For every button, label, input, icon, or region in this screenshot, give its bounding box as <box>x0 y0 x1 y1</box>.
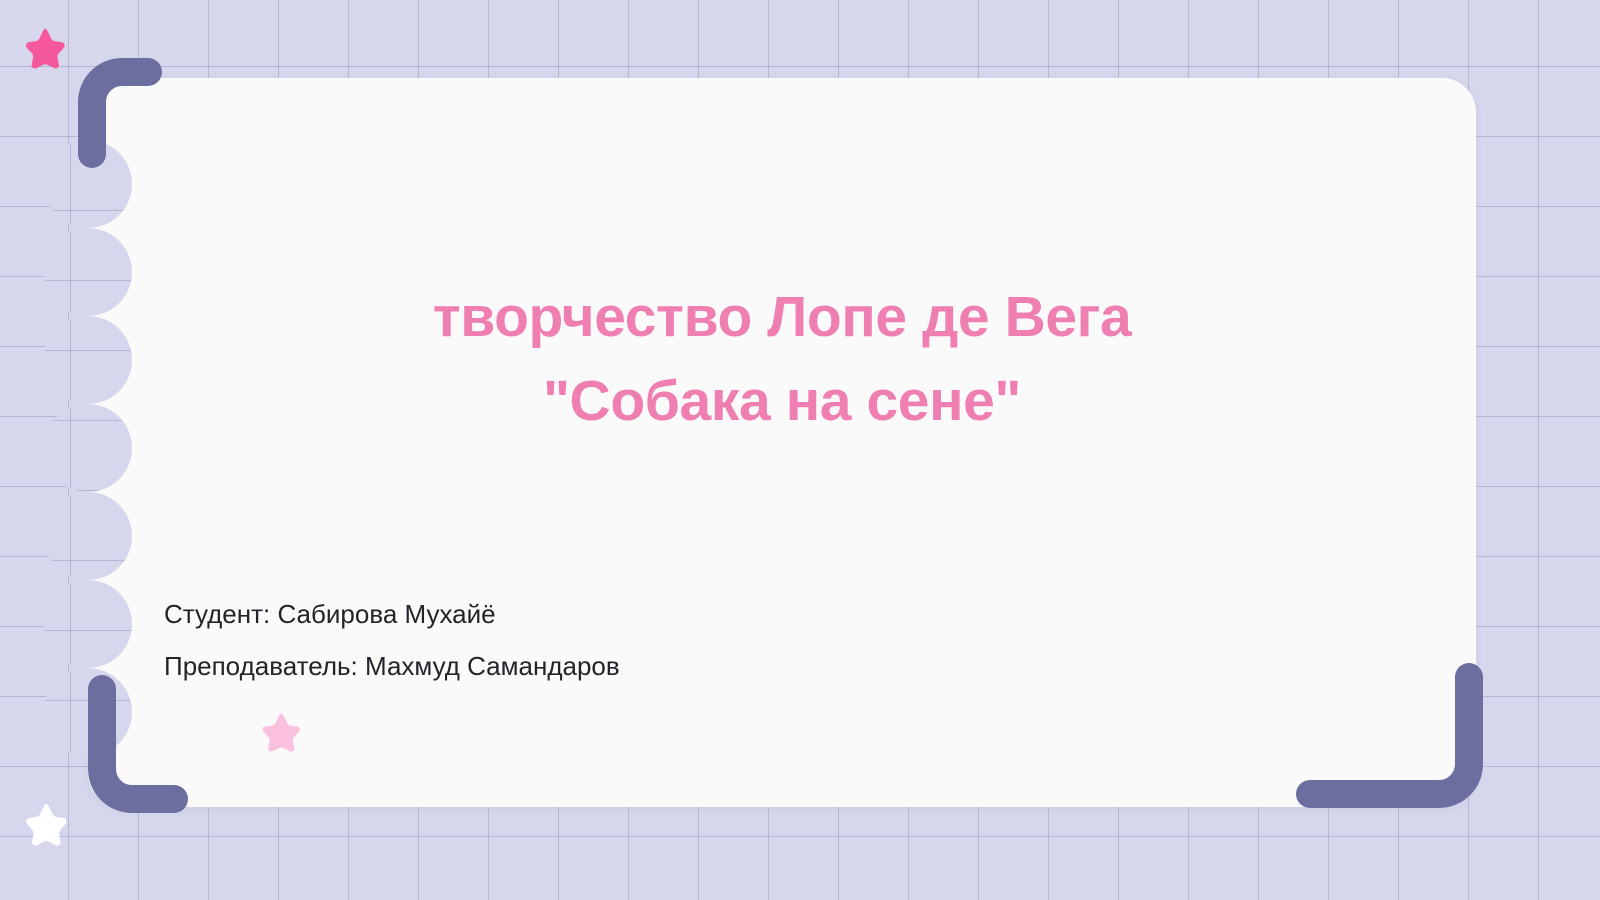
corner-bracket-bottom-right-icon <box>1288 655 1493 820</box>
title-block: творчество Лопе де Вега "Собака на сене" <box>88 276 1476 444</box>
content-card: творчество Лопе де Вега "Собака на сене"… <box>88 78 1476 807</box>
card-scallop-notch <box>44 580 132 668</box>
slide-title: творчество Лопе де Вега "Собака на сене" <box>148 276 1416 444</box>
star-light-pink-icon <box>259 710 301 752</box>
star-white-icon <box>22 800 68 846</box>
corner-bracket-top-left-icon <box>78 58 158 168</box>
presenter-info-block: Студент: Сабирова Мухайё Преподаватель: … <box>164 601 620 679</box>
star-pink-icon <box>22 25 66 69</box>
teacher-name-line: Преподаватель: Махмуд Самандаров <box>164 653 620 679</box>
corner-bracket-bottom-left-icon <box>78 665 188 820</box>
card-scallop-notch <box>44 492 132 580</box>
student-name-line: Студент: Сабирова Мухайё <box>164 601 620 627</box>
